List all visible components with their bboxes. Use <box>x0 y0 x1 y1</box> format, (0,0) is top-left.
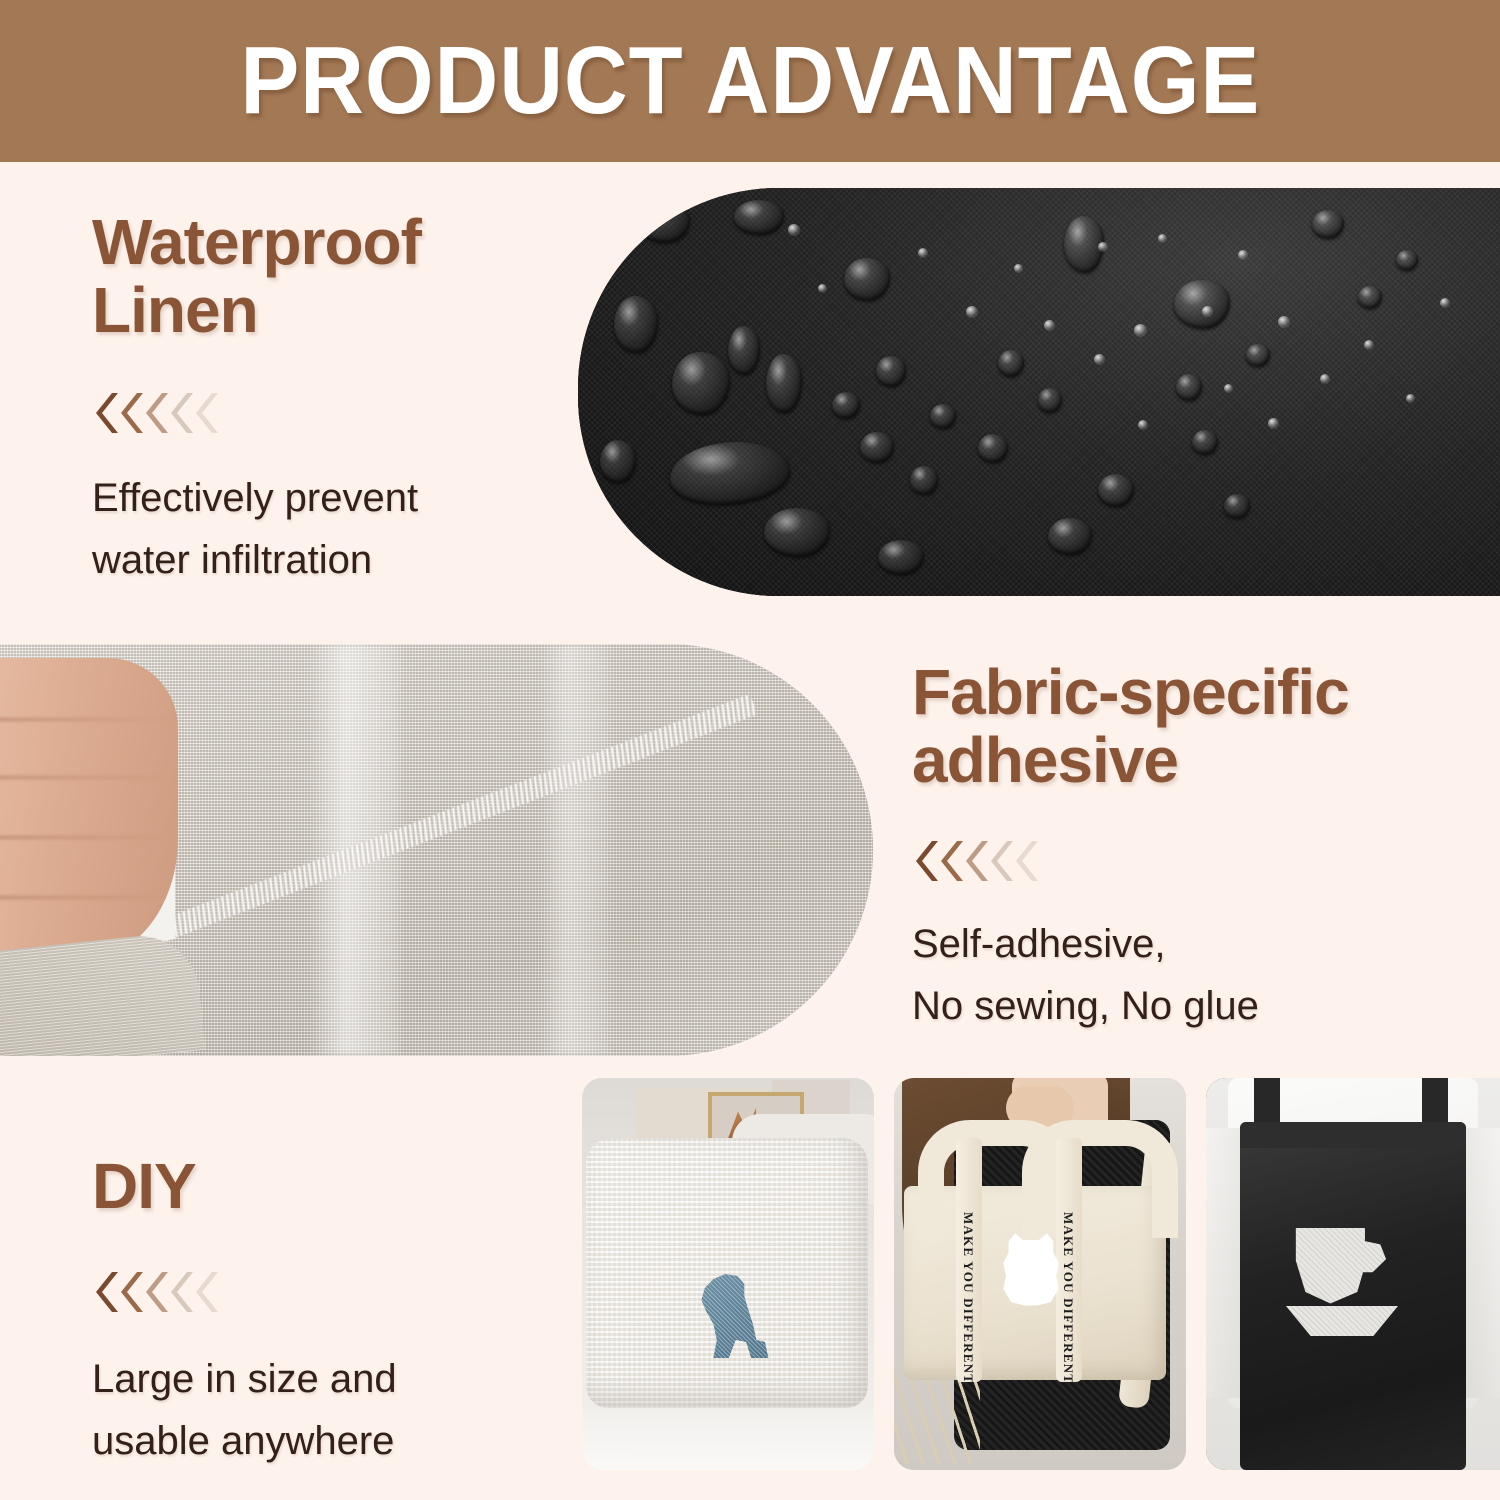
chevrons-left-icon <box>92 393 562 433</box>
chevron-3-icon <box>142 1272 168 1312</box>
water-mist <box>1044 320 1055 331</box>
water-droplet <box>734 200 784 234</box>
chevron-5-icon <box>192 1272 218 1312</box>
water-mist <box>788 224 800 236</box>
feature-fabric-specific-adhesive: Fabric-specific adhesive Self-adhesive, … <box>912 658 1482 1037</box>
chevron-5-icon <box>1012 841 1038 881</box>
water-droplet <box>978 434 1008 462</box>
water-droplet <box>1048 518 1092 554</box>
tote-handle <box>1022 1120 1178 1238</box>
water-droplet <box>728 326 760 374</box>
waterproof-fabric-photo <box>578 188 1500 596</box>
water-mist <box>1268 418 1279 429</box>
water-mist <box>1138 420 1148 430</box>
chevron-2-icon <box>937 841 963 881</box>
water-mist <box>1134 324 1147 337</box>
pillow-photo <box>582 1078 874 1470</box>
water-mist <box>1094 354 1105 365</box>
chevron-5-icon <box>192 393 218 433</box>
feature-desc-adhesive-line1: Self-adhesive, <box>912 913 1482 975</box>
water-droplet <box>1192 430 1218 454</box>
water-mist <box>1278 316 1290 328</box>
water-droplet <box>1224 494 1250 518</box>
water-droplet <box>1396 250 1418 270</box>
water-droplet <box>1038 388 1062 412</box>
finger-crease <box>0 836 166 839</box>
water-droplet <box>930 404 956 428</box>
water-mist <box>1440 298 1450 308</box>
feature-title-diy: DIY <box>92 1152 542 1220</box>
feature-desc-adhesive-line2: No sewing, No glue <box>912 975 1482 1037</box>
water-mist <box>1158 234 1167 243</box>
chevron-4-icon <box>167 1272 193 1312</box>
throw-pillow <box>586 1138 868 1408</box>
water-droplet <box>614 296 658 352</box>
water-mist <box>818 284 827 293</box>
water-mist <box>1320 374 1330 384</box>
water-droplet <box>1098 474 1134 506</box>
water-droplet <box>1358 286 1382 308</box>
water-droplet <box>1312 210 1344 238</box>
water-droplet <box>832 392 860 418</box>
chevron-1-icon <box>92 393 118 433</box>
tote-printed-text-left: MAKE YOU DIFFERENT <box>960 1212 976 1384</box>
water-droplet <box>878 540 924 574</box>
water-mist <box>1014 264 1023 273</box>
page-title: PRODUCT ADVANTAGE <box>240 33 1260 129</box>
finger-crease <box>0 776 166 779</box>
feature-desc-diy-line2: usable anywhere <box>92 1410 542 1472</box>
chevron-2-icon <box>117 393 143 433</box>
header-banner: PRODUCT ADVANTAGE <box>0 0 1500 162</box>
water-mist <box>1202 306 1213 317</box>
chevron-3-icon <box>142 393 168 433</box>
black-apron <box>1240 1122 1466 1470</box>
feature-diy: DIY Large in size and usable anywhere <box>92 1152 542 1472</box>
linen-fabric-hand-photo <box>0 644 873 1056</box>
chevron-1-icon <box>92 1272 118 1312</box>
apron-photo <box>1206 1078 1500 1470</box>
feature-title-waterproof: Waterproof Linen <box>92 208 562 345</box>
feature-title-adhesive: Fabric-specific adhesive <box>912 658 1482 795</box>
floor <box>582 1410 874 1470</box>
water-mist <box>918 248 928 258</box>
water-droplet <box>638 202 690 242</box>
water-droplet <box>998 350 1024 376</box>
feature-desc-waterproof-line2: water infiltration <box>92 529 562 591</box>
product-gallery: MAKE YOU DIFFERENT MAKE YOU DIFFERENT <box>582 1078 1500 1470</box>
chevron-3-icon <box>962 841 988 881</box>
water-droplet <box>1176 374 1202 400</box>
water-mist <box>1224 384 1233 393</box>
water-mist <box>1364 340 1374 350</box>
feature-desc-waterproof-line1: Effectively prevent <box>92 467 562 529</box>
water-droplet <box>860 432 894 462</box>
water-droplet <box>876 356 906 386</box>
tote-printed-text-right: MAKE YOU DIFFERENT <box>1060 1212 1076 1384</box>
finger-crease <box>0 718 166 721</box>
water-mist <box>966 306 978 318</box>
chevron-1-icon <box>912 841 938 881</box>
dog-silhouette-patch <box>691 1266 777 1366</box>
linen-fold <box>540 644 610 1056</box>
feature-desc-diy-line1: Large in size and <box>92 1348 542 1410</box>
apron-bib-seam <box>1240 1122 1466 1148</box>
chevron-4-icon <box>167 393 193 433</box>
linen-folded-corner <box>0 930 206 1056</box>
water-mist <box>1098 242 1108 252</box>
finger-crease <box>0 896 166 899</box>
chevron-4-icon <box>987 841 1013 881</box>
water-droplet <box>910 466 938 494</box>
feature-waterproof-linen: Waterproof Linen Effectively prevent wat… <box>92 208 562 591</box>
chevrons-left-icon <box>912 841 1482 881</box>
hand <box>0 658 178 958</box>
water-droplet <box>844 258 890 300</box>
bear-silhouette-patch <box>998 1230 1064 1312</box>
tote-bag-photo: MAKE YOU DIFFERENT MAKE YOU DIFFERENT <box>894 1078 1186 1470</box>
water-droplet <box>766 354 802 412</box>
water-droplet <box>1174 280 1230 328</box>
water-mist <box>1238 250 1248 260</box>
water-droplet <box>672 352 730 414</box>
chevron-2-icon <box>117 1272 143 1312</box>
water-droplet <box>600 440 636 482</box>
chevrons-left-icon <box>92 1272 542 1312</box>
water-droplet <box>1246 344 1270 366</box>
tote-bag: MAKE YOU DIFFERENT MAKE YOU DIFFERENT <box>904 1186 1166 1380</box>
water-droplet <box>764 508 830 556</box>
water-mist <box>1406 394 1415 403</box>
